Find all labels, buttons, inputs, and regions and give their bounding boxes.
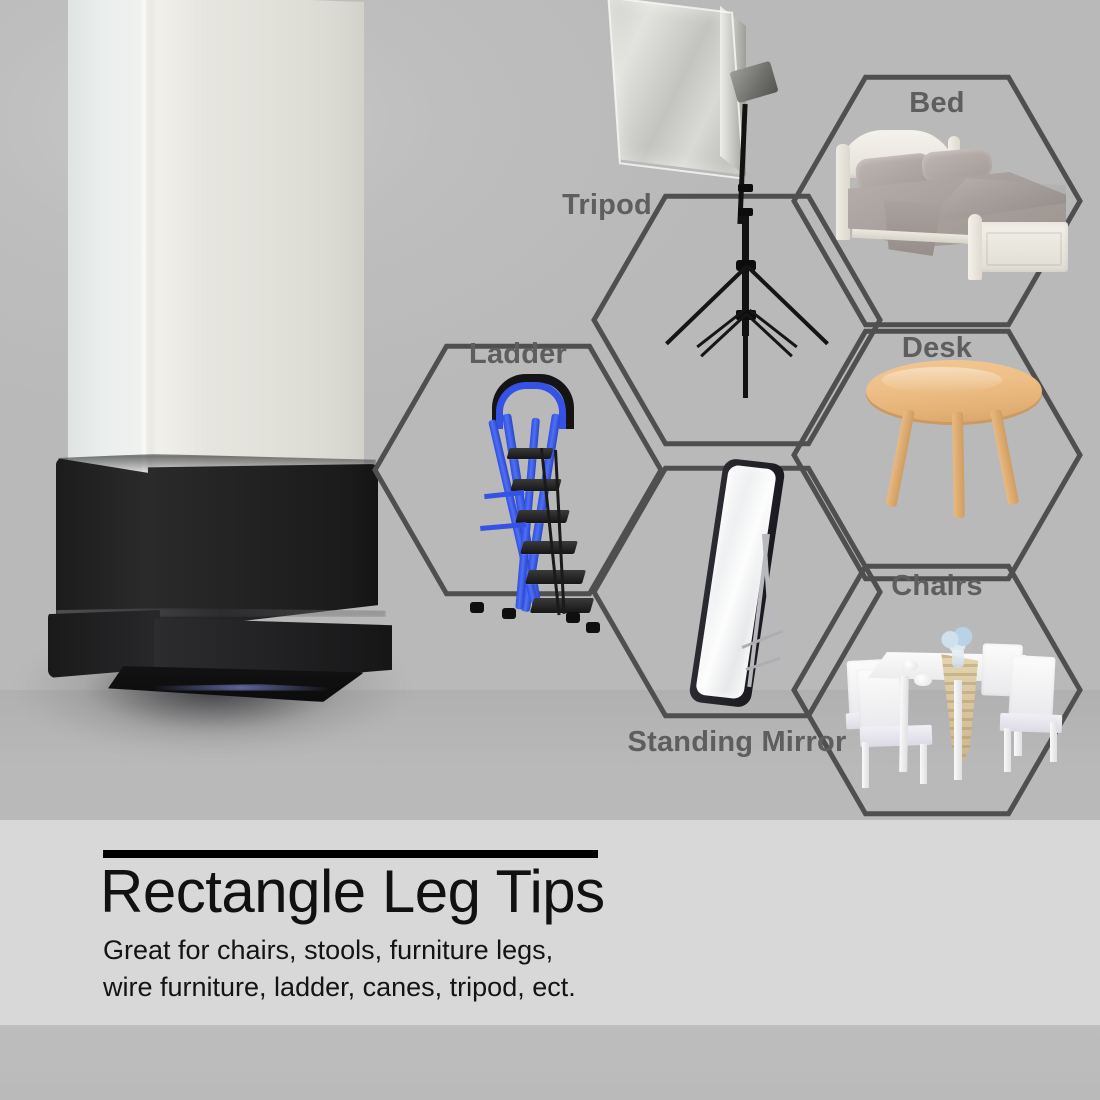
ladder-illustration [462, 374, 612, 614]
tripod-leg-left [665, 265, 748, 346]
softbox-rim [607, 0, 744, 180]
bed-headboard-post-left [836, 144, 850, 240]
bed-footboard-panel [986, 232, 1062, 266]
tripod-knob-2 [738, 208, 753, 216]
hex-label-ladder: Ladder [418, 338, 618, 371]
chair-leg-right-1 [1004, 728, 1011, 772]
cup-1 [902, 660, 918, 671]
tripod-brace-left-2 [696, 309, 745, 348]
subtitle-line-1: Great for chairs, stools, furniture legs… [103, 935, 553, 966]
ladder-foot-front-left [502, 608, 516, 619]
hexagon-honeycomb: Ladder Tripod Standing Mirror Bed Desk C… [0, 0, 1100, 820]
bed-footboard-post [968, 214, 982, 280]
hex-label-tripod: Tripod [507, 189, 707, 222]
tripod-brace-right-2 [749, 309, 798, 348]
desk-leg-left [885, 409, 914, 507]
hex-label-desk: Desk [837, 332, 1037, 365]
tripod-brace-left [700, 313, 747, 357]
chair-leg-left-2 [920, 744, 927, 784]
subtitle-line-2: wire furniture, ladder, canes, tripod, e… [103, 972, 576, 1003]
desk-illustration [866, 360, 1042, 520]
ladder-step-1 [506, 448, 553, 459]
bottom-strip [0, 1025, 1100, 1100]
desk-leg-center [952, 412, 965, 518]
desk-tabletop-highlight [882, 367, 1002, 393]
ladder-step-2 [510, 479, 561, 491]
tripod-knob-1 [738, 184, 753, 192]
bed-sheet-drape [884, 200, 942, 256]
hex-label-chairs: Chairs [837, 570, 1037, 603]
tripod-leg-right [746, 265, 829, 346]
ladder-foot-rear-left [470, 602, 484, 613]
caption-panel: Rectangle Leg Tips Great for chairs, sto… [0, 820, 1100, 1025]
product-image-canvas: Ladder Tripod Standing Mirror Bed Desk C… [0, 0, 1100, 1100]
photo-area: Ladder Tripod Standing Mirror Bed Desk C… [0, 0, 1100, 820]
standing-mirror-illustration [690, 460, 840, 720]
tripod-brace-right [745, 313, 792, 357]
ladder-step-3 [515, 510, 570, 523]
title-underline-rule [103, 850, 598, 858]
tripod-lower-pole [743, 270, 748, 398]
hex-label-bed: Bed [837, 87, 1037, 120]
cup-2 [914, 674, 932, 686]
desk-leg-right [990, 409, 1019, 505]
table-leg-mid [954, 680, 962, 780]
flower-vase [952, 650, 964, 668]
chair-leg-right-2 [1050, 722, 1057, 762]
chair-back-near-right [1008, 655, 1055, 719]
ladder-foot-front-right [586, 622, 600, 633]
chairs-illustration [842, 616, 1064, 792]
page-title: Rectangle Leg Tips [100, 860, 605, 923]
ladder-foot-rear-right [566, 612, 580, 623]
bed-illustration [828, 126, 1068, 284]
hex-label-standing-mirror: Standing Mirror [567, 726, 907, 759]
